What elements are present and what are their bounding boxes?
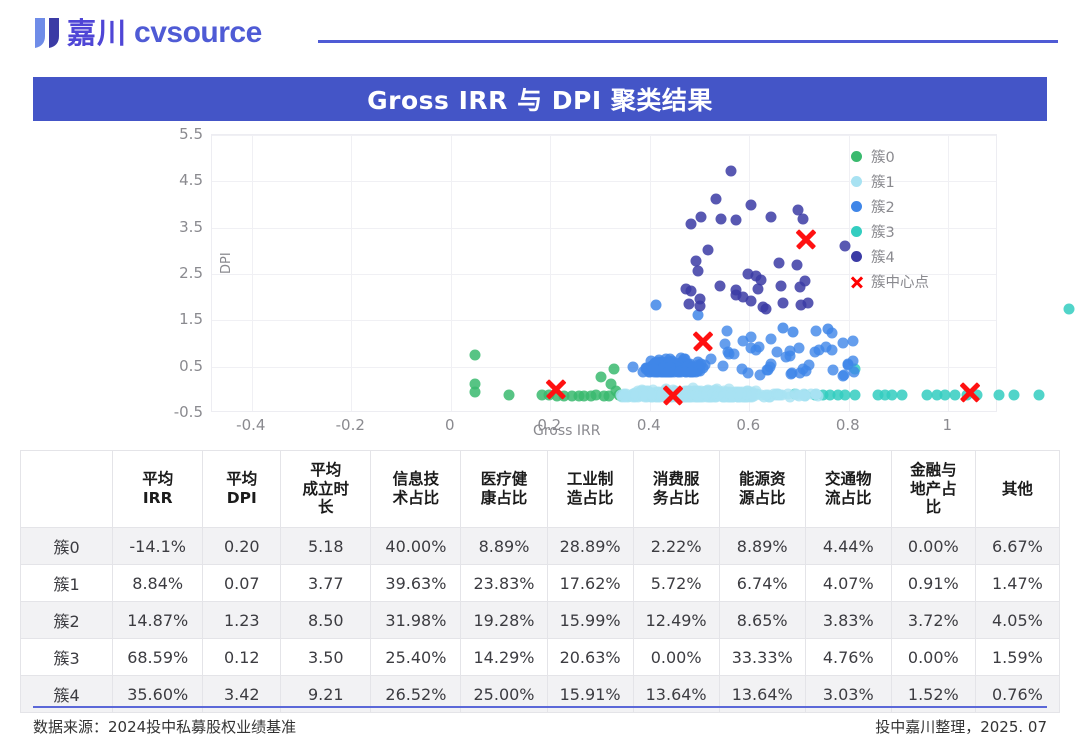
legend-item[interactable]: 簇3 [851, 219, 1001, 244]
scatter-point [732, 389, 743, 400]
table-cell: 4.05% [975, 602, 1059, 639]
table-cell: 25.40% [371, 639, 461, 676]
brand-logo-cn: 嘉川 [67, 19, 127, 48]
table-cell: 19.28% [461, 602, 547, 639]
table-row: 簇214.87%1.238.5031.98%19.28%15.99%12.49%… [21, 602, 1060, 639]
table-cell: 23.83% [461, 565, 547, 602]
scatter-point [620, 388, 631, 399]
scatter-point [805, 389, 816, 400]
cluster-centroid-marker [957, 379, 983, 405]
scatter-point [1009, 389, 1020, 400]
table-header-cell: 交通物流占比 [805, 451, 891, 528]
table-cell: 0.00% [891, 528, 975, 565]
scatter-point [765, 212, 776, 223]
scatter-point [469, 350, 480, 361]
scatter-point [686, 367, 697, 378]
footer-credit: 投中嘉川整理，2025. 07 [875, 716, 1047, 737]
scatter-point [797, 364, 808, 375]
cluster-centroid-marker [543, 376, 569, 402]
scatter-point [685, 219, 696, 230]
cluster-centroid-marker [793, 226, 819, 252]
scatter-point [760, 389, 771, 400]
table-body: 簇0-14.1%0.205.1840.00%8.89%28.89%2.22%8.… [21, 528, 1060, 713]
table-cell: 0.91% [891, 565, 975, 602]
table-cell: 5.18 [281, 528, 371, 565]
table-cell: 0.12 [203, 639, 281, 676]
table-cell: 4.44% [805, 528, 891, 565]
scatter-point [809, 347, 820, 358]
scatter-point [731, 285, 742, 296]
table-cell: -14.1% [113, 528, 203, 565]
chart-legend: 簇0簇1簇2簇3簇4簇中心点 [851, 144, 1001, 294]
scatter-point [799, 275, 810, 286]
gridline-horizontal [212, 367, 996, 368]
table-cell: 39.63% [371, 565, 461, 602]
scatter-point [695, 301, 706, 312]
scatter-point [775, 280, 786, 291]
table-header-corner [21, 451, 113, 528]
scatter-point [1034, 389, 1045, 400]
table-cell: 31.98% [371, 602, 461, 639]
scatter-point [826, 327, 837, 338]
table-row: 簇368.59%0.123.5025.40%14.29%20.63%0.00%3… [21, 639, 1060, 676]
scatter-point [792, 260, 803, 271]
table-cell: 3.50 [281, 639, 371, 676]
scatter-point [628, 362, 639, 373]
x-axis-tick: 1 [917, 416, 977, 434]
scatter-point [746, 331, 757, 342]
scatter-point [694, 391, 705, 402]
table-header-cell: 医疗健康占比 [461, 451, 547, 528]
table-header-row: 平均IRR平均DPI平均成立时长信息技术占比医疗健康占比工业制造占比消费服务占比… [21, 451, 1060, 528]
scatter-point [994, 389, 1005, 400]
table-head: 平均IRR平均DPI平均成立时长信息技术占比医疗健康占比工业制造占比消费服务占比… [21, 451, 1060, 528]
table-cell: 17.62% [547, 565, 633, 602]
brand-logo: 嘉川 cvsource [33, 16, 262, 50]
table-cell: 14.29% [461, 639, 547, 676]
table-row-label: 簇0 [21, 528, 113, 565]
table-cell: 1.23 [203, 602, 281, 639]
table-header-cell: 其他 [975, 451, 1059, 528]
table-cell: 8.65% [719, 602, 805, 639]
scatter-point [774, 390, 785, 401]
scatter-point [692, 266, 703, 277]
x-axis-tick: 0.8 [818, 416, 878, 434]
scatter-point [849, 366, 860, 377]
y-axis-tick: -0.5 [143, 403, 203, 421]
scatter-point [1064, 303, 1075, 314]
scatter-point [710, 193, 721, 204]
scatter-point [608, 364, 619, 375]
scatter-point [850, 390, 861, 401]
table-header-cell: 平均IRR [113, 451, 203, 528]
legend-label: 簇3 [871, 221, 895, 242]
legend-label: 簇0 [871, 146, 895, 167]
table-cell: 33.33% [719, 639, 805, 676]
table-cell: 40.00% [371, 528, 461, 565]
cvsource-mark-icon [33, 16, 63, 50]
table-cell: 12.49% [633, 602, 719, 639]
table-cell: 28.89% [547, 528, 633, 565]
table-cell: 14.87% [113, 602, 203, 639]
table-cell: 0.07 [203, 565, 281, 602]
legend-item[interactable]: 簇中心点 [851, 269, 1001, 294]
table-cell: 20.63% [547, 639, 633, 676]
scatter-point [781, 352, 792, 363]
scatter-chart: DPI Gross IRR 簇0簇1簇2簇3簇4簇中心点 -0.4-0.200.… [33, 126, 1047, 444]
scatter-point [649, 363, 660, 374]
gridline-horizontal [212, 135, 996, 136]
scatter-point [749, 391, 760, 402]
table-cell: 4.76% [805, 639, 891, 676]
table-cell: 8.89% [461, 528, 547, 565]
scatter-point [810, 325, 821, 336]
scatter-point [766, 333, 777, 344]
y-axis-tick: 4.5 [143, 171, 203, 189]
x-axis-tick: 0.6 [718, 416, 778, 434]
table-header-cell: 平均DPI [203, 451, 281, 528]
y-axis-tick: 0.5 [143, 357, 203, 375]
scatter-point [760, 303, 771, 314]
scatter-point [603, 390, 614, 401]
legend-dot-icon [851, 201, 862, 212]
y-axis-tick: 5.5 [143, 125, 203, 143]
scatter-point [794, 342, 805, 353]
table-row: 簇0-14.1%0.205.1840.00%8.89%28.89%2.22%8.… [21, 528, 1060, 565]
scatter-point [725, 165, 736, 176]
table-cell: 8.50 [281, 602, 371, 639]
scatter-point [504, 389, 515, 400]
scatter-point [736, 364, 747, 375]
scatter-point [787, 327, 798, 338]
table-row-label: 簇1 [21, 565, 113, 602]
y-axis-tick: 3.5 [143, 218, 203, 236]
scatter-point [469, 387, 480, 398]
page-header: 嘉川 cvsource [0, 0, 1080, 68]
table-cell: 5.72% [633, 565, 719, 602]
scatter-point [840, 240, 851, 251]
table-cell: 1.47% [975, 565, 1059, 602]
cluster-centroid-marker [690, 328, 716, 354]
scatter-point [715, 213, 726, 224]
legend-item[interactable]: 簇4 [851, 244, 1001, 269]
table-cell: 3.77 [281, 565, 371, 602]
table-cell: 0.00% [633, 639, 719, 676]
scatter-point [847, 336, 858, 347]
scatter-point [651, 300, 662, 311]
legend-dot-icon [851, 226, 862, 237]
scatter-point [797, 214, 808, 225]
page-title-banner: Gross IRR 与 DPI 聚类结果 [33, 77, 1047, 121]
table-row: 簇18.84%0.073.7739.63%23.83%17.62%5.72%6.… [21, 565, 1060, 602]
scatter-point [803, 297, 814, 308]
scatter-point [695, 359, 706, 370]
scatter-point [753, 341, 764, 352]
table-row-label: 簇2 [21, 602, 113, 639]
legend-dot-icon [851, 151, 862, 162]
scatter-point [838, 369, 849, 380]
legend-dot-icon [851, 176, 862, 187]
page-title: Gross IRR 与 DPI 聚类结果 [367, 81, 713, 117]
table-cell: 0.20 [203, 528, 281, 565]
gridline-vertical [451, 135, 452, 411]
scatter-point [786, 369, 797, 380]
table-header-cell: 工业制造占比 [547, 451, 633, 528]
table-header-cell: 金融与地产占比 [891, 451, 975, 528]
scatter-point [714, 281, 725, 292]
legend-x-icon [851, 276, 862, 287]
table-header-cell: 消费服务占比 [633, 451, 719, 528]
table-header-cell: 信息技术占比 [371, 451, 461, 528]
scatter-point [683, 298, 694, 309]
table-cell: 15.99% [547, 602, 633, 639]
scatter-point [773, 258, 784, 269]
gridline-horizontal [212, 320, 996, 321]
legend-label: 簇2 [871, 196, 895, 217]
legend-label: 簇4 [871, 246, 895, 267]
scatter-point [730, 215, 741, 226]
gridline-vertical [252, 135, 253, 411]
x-axis-tick: -0.2 [320, 416, 380, 434]
scatter-point [753, 283, 764, 294]
scatter-point [703, 244, 714, 255]
table-cell: 8.89% [719, 528, 805, 565]
legend-label: 簇1 [871, 171, 895, 192]
table-cell: 68.59% [113, 639, 203, 676]
footer-source: 数据来源：2024投中私募股权业绩基准 [33, 716, 296, 737]
table-cell: 0.00% [891, 639, 975, 676]
table-cell: 3.72% [891, 602, 975, 639]
table-header-cell: 平均成立时长 [281, 451, 371, 528]
scatter-point [745, 199, 756, 210]
scatter-point [777, 298, 788, 309]
legend-item[interactable]: 簇2 [851, 194, 1001, 219]
table-cell: 1.59% [975, 639, 1059, 676]
scatter-point [897, 390, 908, 401]
x-axis-tick: -0.4 [221, 416, 281, 434]
legend-item[interactable]: 簇0 [851, 144, 1001, 169]
table-row-label: 簇3 [21, 639, 113, 676]
scatter-point [762, 365, 773, 376]
scatter-point [821, 341, 832, 352]
scatter-point [745, 295, 756, 306]
table-cell: 6.67% [975, 528, 1059, 565]
gridline-vertical [351, 135, 352, 411]
table-cell: 4.07% [805, 565, 891, 602]
gridline-vertical [550, 135, 551, 411]
cluster-centroid-marker [660, 382, 686, 408]
scatter-point [662, 367, 673, 378]
table-cell: 3.83% [805, 602, 891, 639]
scatter-point [721, 326, 732, 337]
scatter-point [706, 354, 717, 365]
legend-item[interactable]: 簇1 [851, 169, 1001, 194]
x-axis-tick: 0 [420, 416, 480, 434]
footer-divider [33, 706, 1047, 708]
table-header-cell: 能源资源占比 [719, 451, 805, 528]
x-axis-tick: 0.4 [619, 416, 679, 434]
y-axis-label: DPI [219, 252, 234, 274]
table-cell: 8.84% [113, 565, 203, 602]
table-cell: 6.74% [719, 565, 805, 602]
scatter-point [723, 349, 734, 360]
legend-dot-icon [851, 251, 862, 262]
scatter-point [717, 360, 728, 371]
scatter-point [794, 391, 805, 402]
cluster-summary-table: 平均IRR平均DPI平均成立时长信息技术占比医疗健康占比工业制造占比消费服务占比… [20, 450, 1060, 713]
table-cell: 2.22% [633, 528, 719, 565]
y-axis-tick: 1.5 [143, 310, 203, 328]
scatter-point [695, 212, 706, 223]
y-axis-tick: 2.5 [143, 264, 203, 282]
scatter-point [838, 338, 849, 349]
scatter-point [579, 390, 590, 401]
legend-label: 簇中心点 [871, 271, 929, 292]
scatter-point [591, 389, 602, 400]
brand-logo-en: cvsource [134, 18, 262, 48]
header-divider [318, 40, 1058, 43]
x-axis-tick: 0.2 [519, 416, 579, 434]
scatter-point [827, 364, 838, 375]
